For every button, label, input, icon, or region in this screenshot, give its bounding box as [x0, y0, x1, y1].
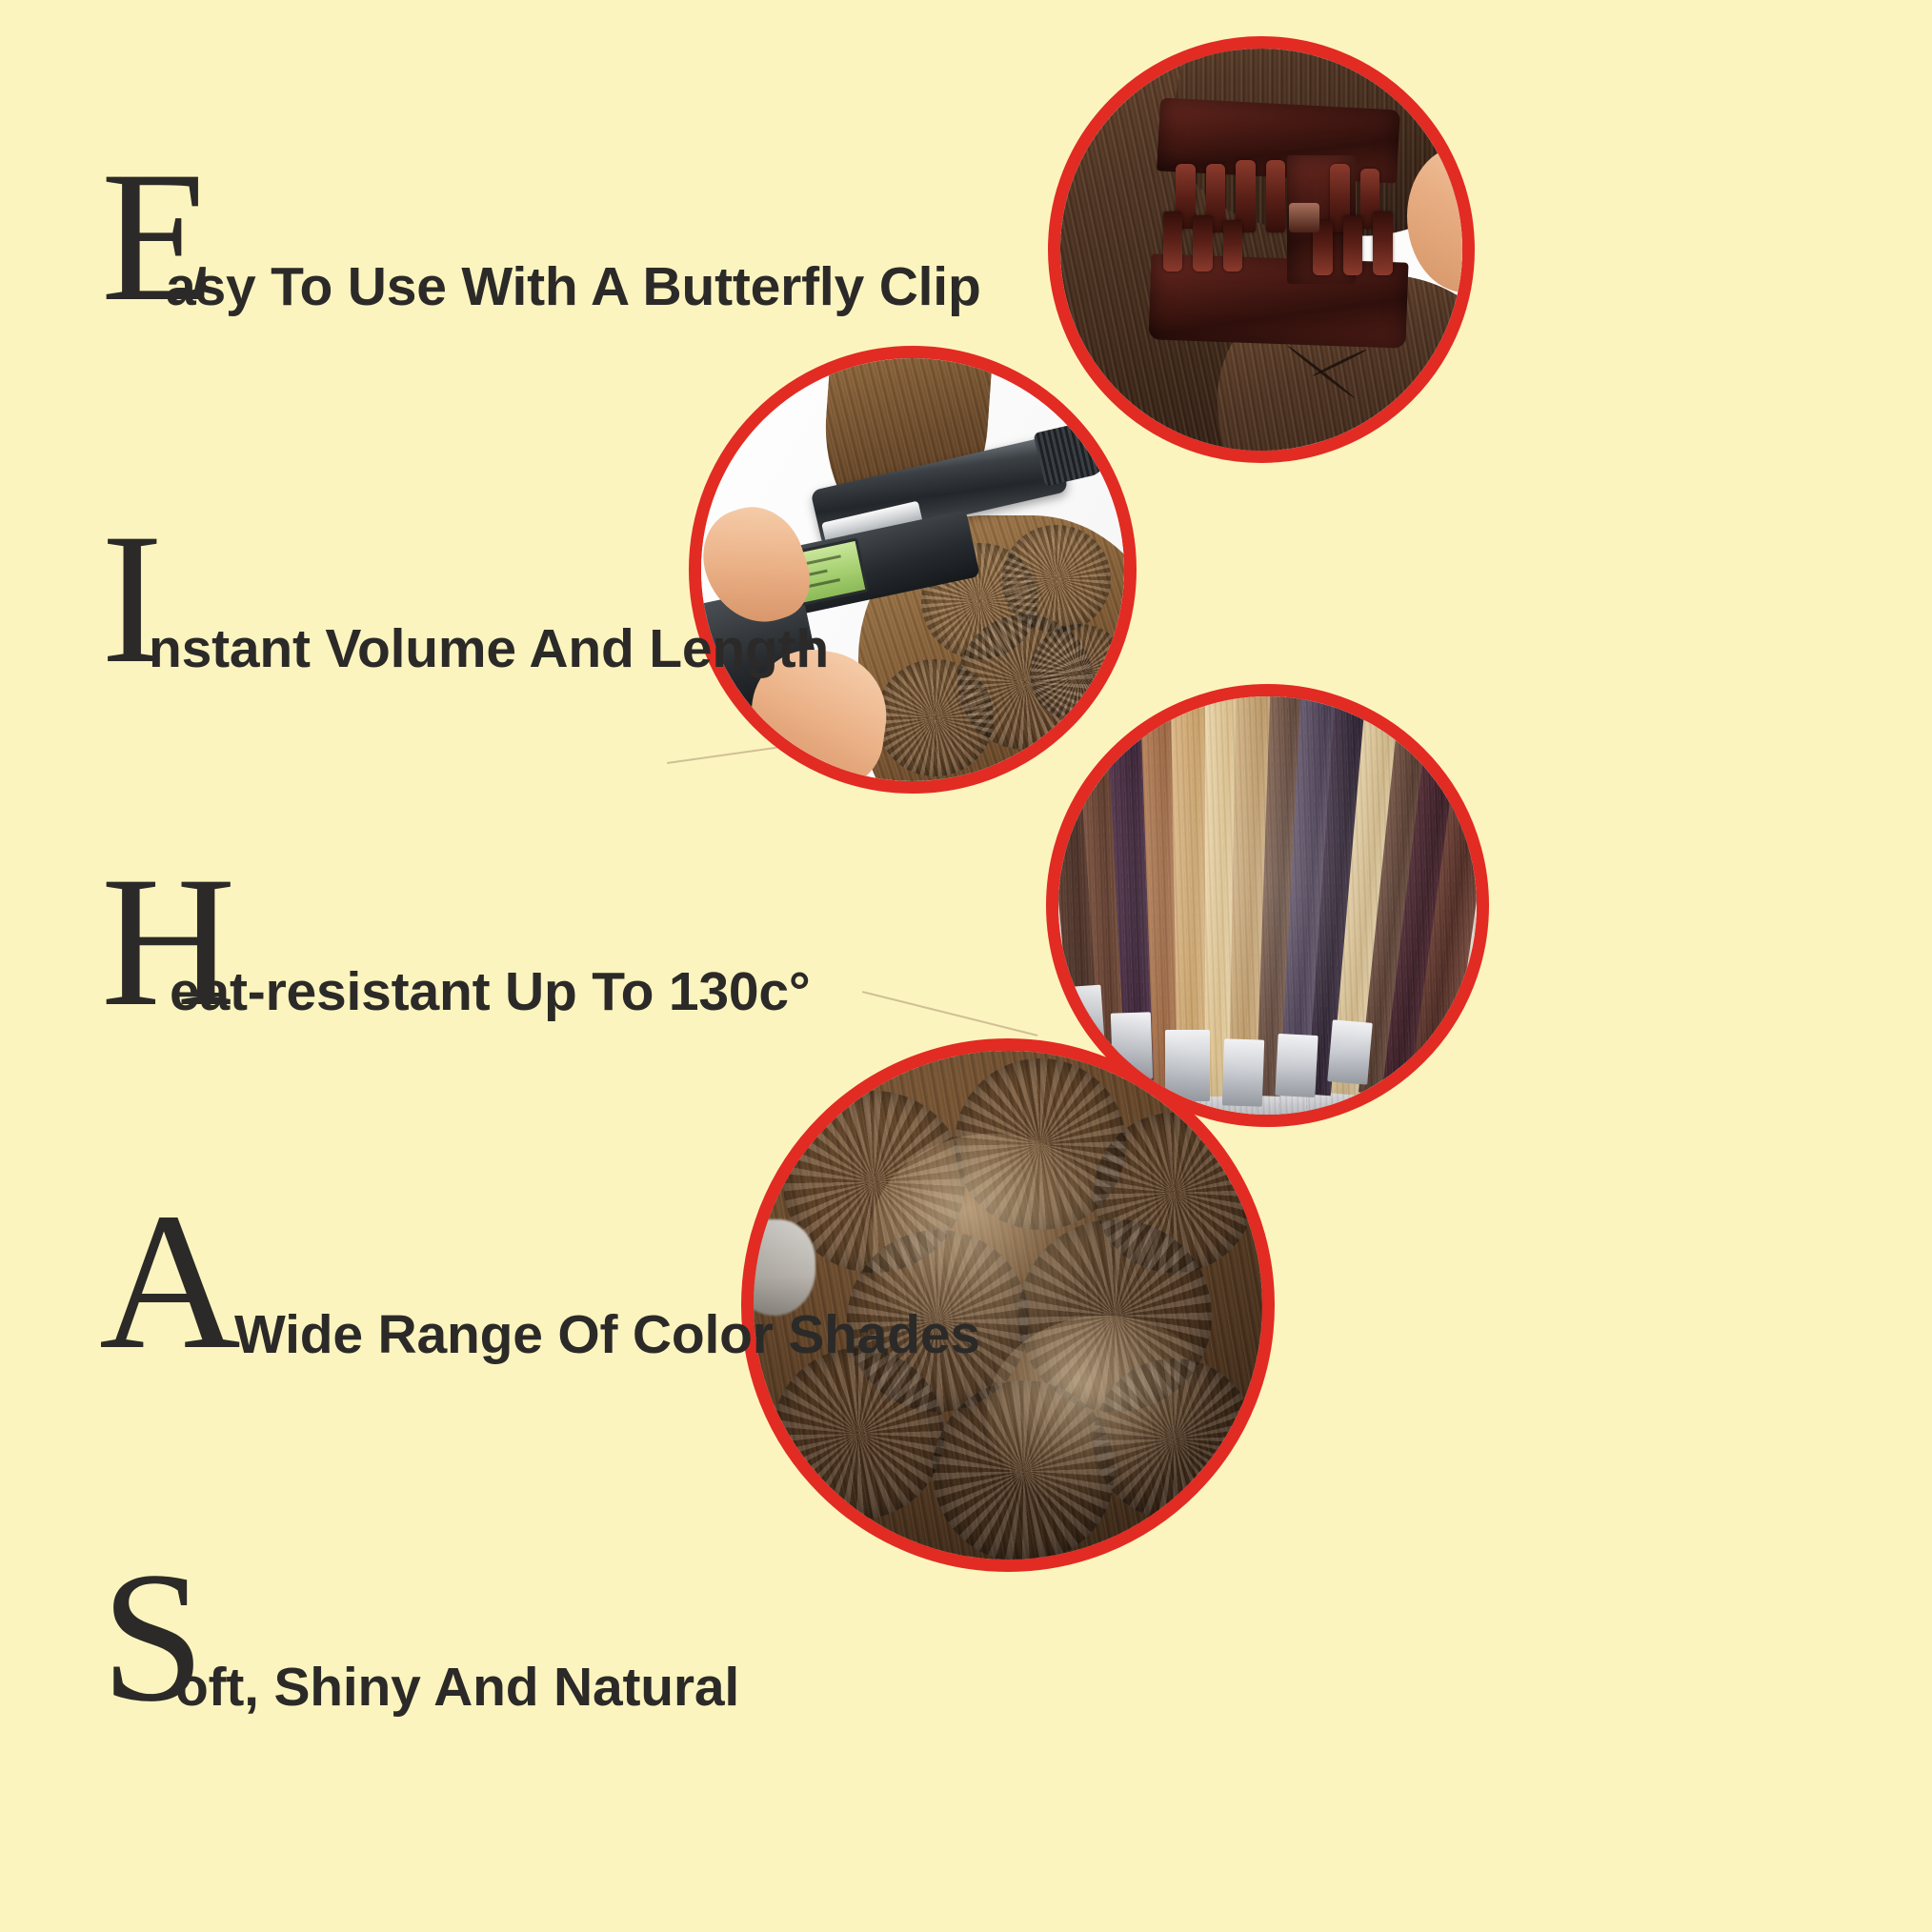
- feature-label: nstant Volume And Length: [149, 622, 829, 676]
- feature-list: E asy To Use With A Butterfly Clip I nst…: [0, 0, 1048, 1932]
- infographic-canvas: E asy To Use With A Butterfly Clip I nst…: [0, 0, 1932, 1932]
- feature-label: asy To Use With A Butterfly Clip: [166, 260, 981, 314]
- feature-label: oft, Shiny And Natural: [175, 1660, 739, 1715]
- feature-label: Wide Range Of Color Shades: [234, 1308, 980, 1362]
- butterfly-clip-photo: [1048, 36, 1475, 463]
- photo-bubble-butterfly-clip: [1048, 36, 1475, 463]
- dropcap-letter: A: [99, 1201, 241, 1362]
- feature-label: eat-resistant Up To 130c°: [170, 965, 810, 1019]
